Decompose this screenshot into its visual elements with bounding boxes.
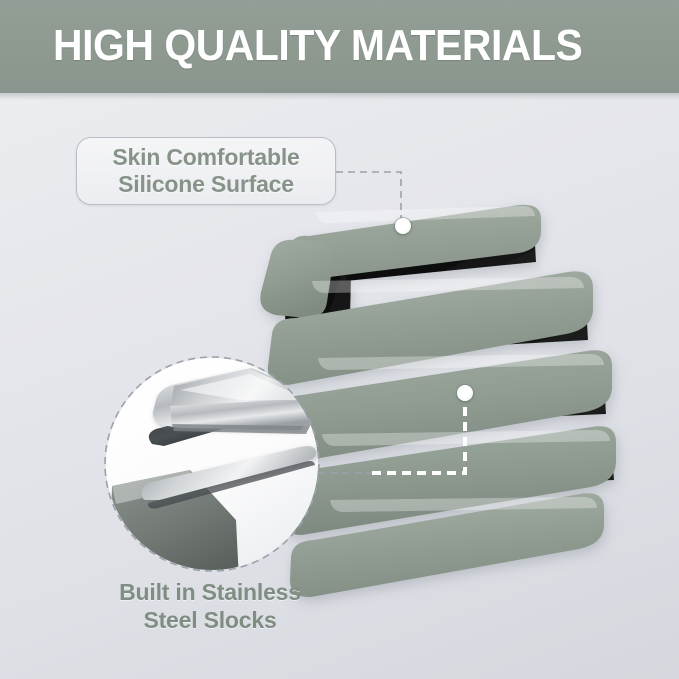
caption-stainless-line-2: Steel Slocks <box>0 606 420 634</box>
callout-silicone-line-2: Silicone Surface <box>118 171 294 198</box>
callout-silicone-surface[interactable]: Skin Comfortable Silicone Surface <box>76 137 336 205</box>
hotspot-dot-silicone[interactable] <box>395 218 411 234</box>
callout-stainless-locks: Built in Stainless Steel Slocks <box>0 578 420 634</box>
product-body <box>260 205 616 597</box>
caption-stainless-line-1: Built in Stainless <box>0 578 420 606</box>
hotspot-dot-steel-lock[interactable] <box>457 385 473 401</box>
product-segment-1-elbow <box>260 240 333 318</box>
infographic-canvas: HIGH QUALITY MATERIALS <box>0 0 679 679</box>
callout-silicone-line-1: Skin Comfortable <box>112 144 299 171</box>
detail-inset-circle <box>105 357 322 600</box>
